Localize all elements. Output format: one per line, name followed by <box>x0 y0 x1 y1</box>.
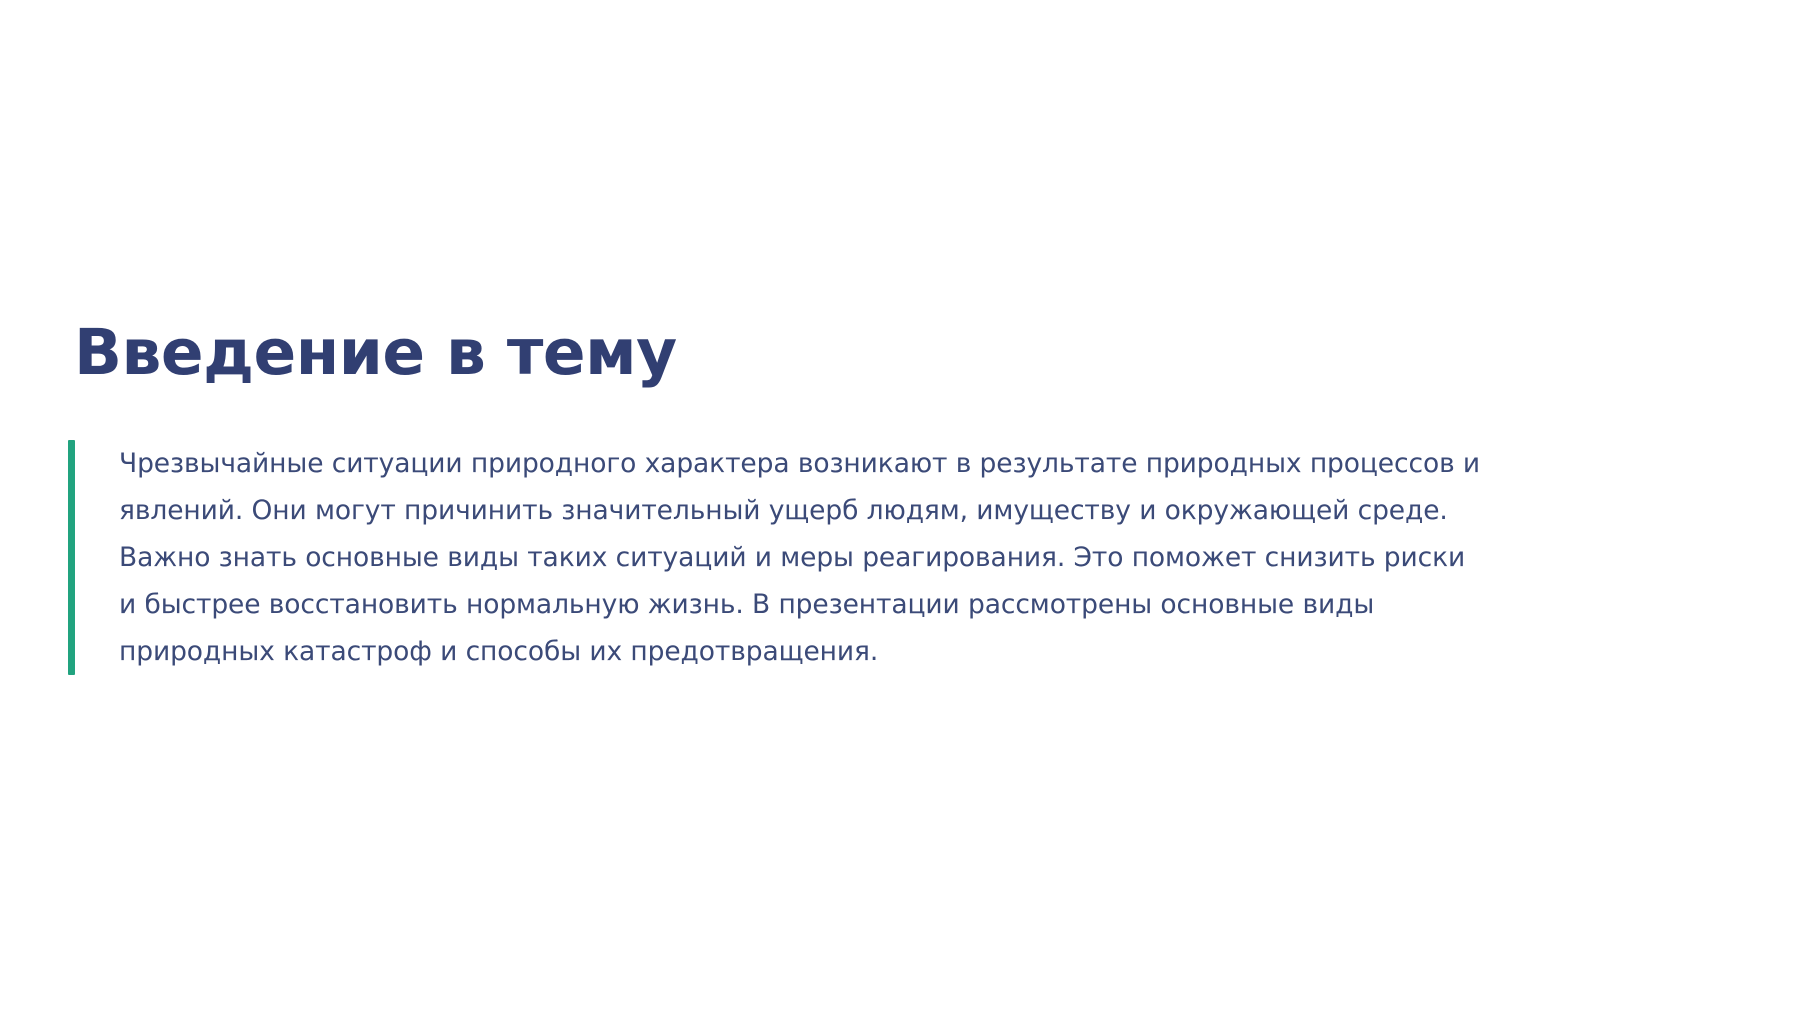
body-paragraph: Чрезвычайные ситуации природного характе… <box>75 440 1488 675</box>
page-title: Введение в тему <box>74 320 677 386</box>
accent-bar <box>68 440 75 675</box>
presentation-slide: Введение в тему Чрезвычайные ситуации пр… <box>0 0 1800 1013</box>
body-text-block: Чрезвычайные ситуации природного характе… <box>68 440 1488 675</box>
